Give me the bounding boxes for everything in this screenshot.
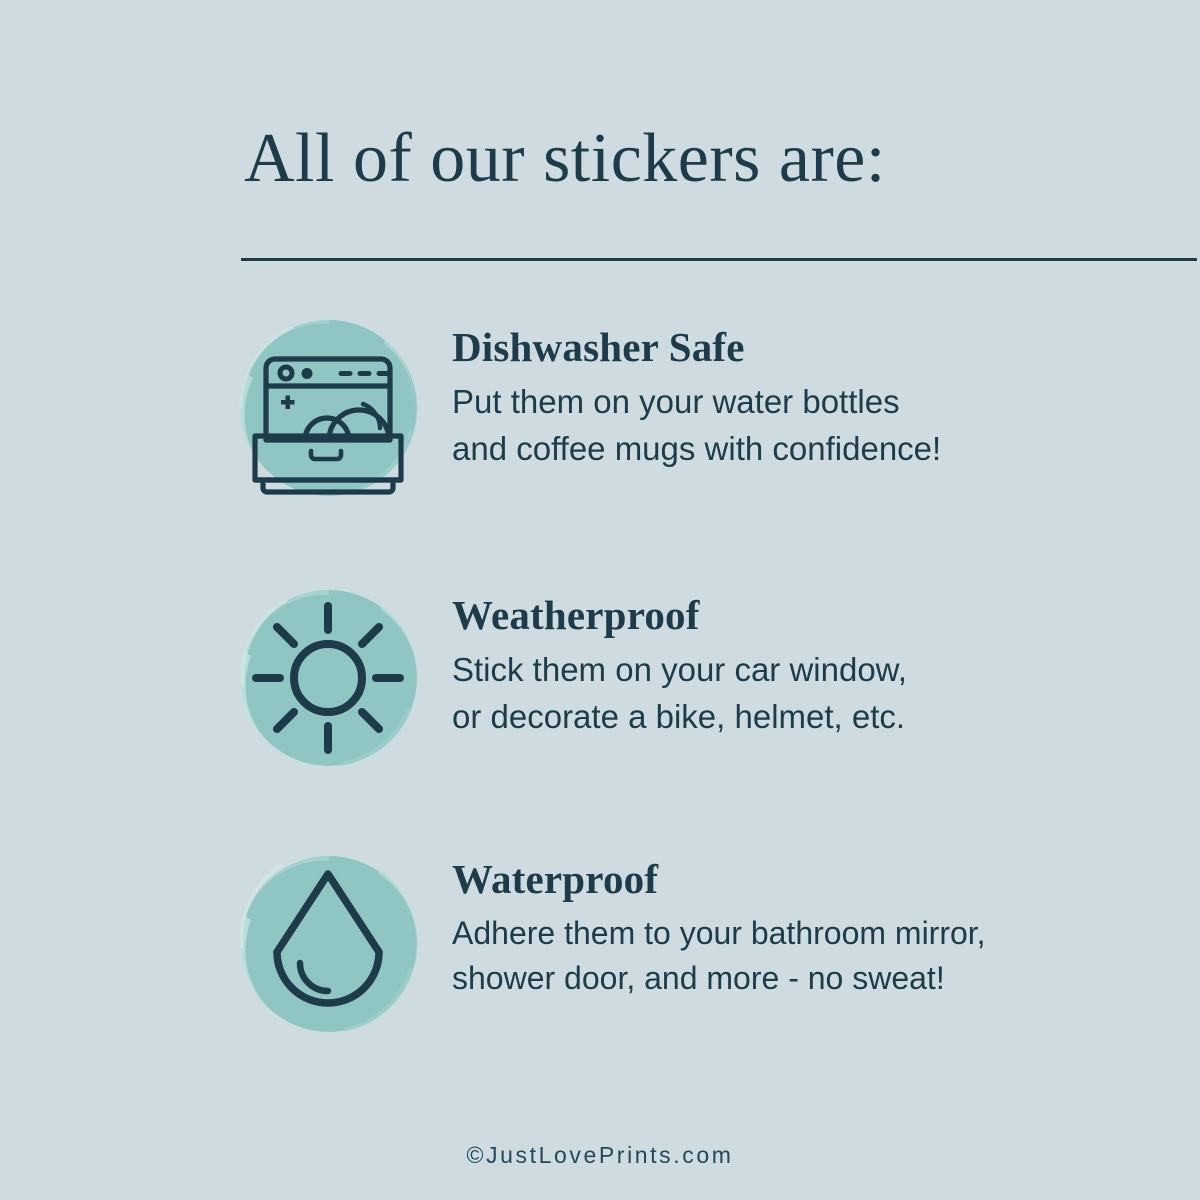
dishwasher-icon-badge (233, 312, 423, 504)
feature-body-line: shower door, and more - no sweat! (452, 956, 1172, 1001)
footer-credit: ©JustLovePrints.com (0, 1142, 1200, 1169)
feature-heading-weatherproof: Weatherproof (452, 594, 1172, 637)
water-drop-icon-badge (233, 848, 423, 1040)
feature-heading-dishwasher: Dishwasher Safe (452, 326, 1172, 369)
page-title: All of our stickers are: (244, 124, 1154, 194)
feature-body-line: or decorate a bike, helmet, etc. (452, 694, 1172, 741)
feature-body-line: Adhere them to your bathroom mirror, (452, 911, 1172, 956)
feature-body-weatherproof: Stick them on your car window, or decora… (452, 647, 1172, 741)
sun-icon (233, 582, 423, 774)
feature-body-line: Put them on your water bottles (452, 379, 1172, 426)
title-divider (241, 258, 1197, 261)
water-drop-icon (233, 848, 423, 1040)
feature-text-dishwasher: Dishwasher Safe Put them on your water b… (452, 326, 1172, 473)
feature-heading-waterproof: Waterproof (452, 858, 1172, 901)
feature-text-weatherproof: Weatherproof Stick them on your car wind… (452, 594, 1172, 741)
sticker-features-page: All of our stickers are: (0, 0, 1200, 1200)
sun-icon-badge (233, 582, 423, 774)
feature-body-line: Stick them on your car window, (452, 647, 1172, 694)
feature-body-line: and coffee mugs with confidence! (452, 426, 1172, 473)
feature-body-dishwasher: Put them on your water bottles and coffe… (452, 379, 1172, 473)
feature-body-waterproof: Adhere them to your bathroom mirror, sho… (452, 911, 1172, 1002)
dishwasher-icon (233, 312, 423, 504)
feature-text-waterproof: Waterproof Adhere them to your bathroom … (452, 858, 1172, 1002)
